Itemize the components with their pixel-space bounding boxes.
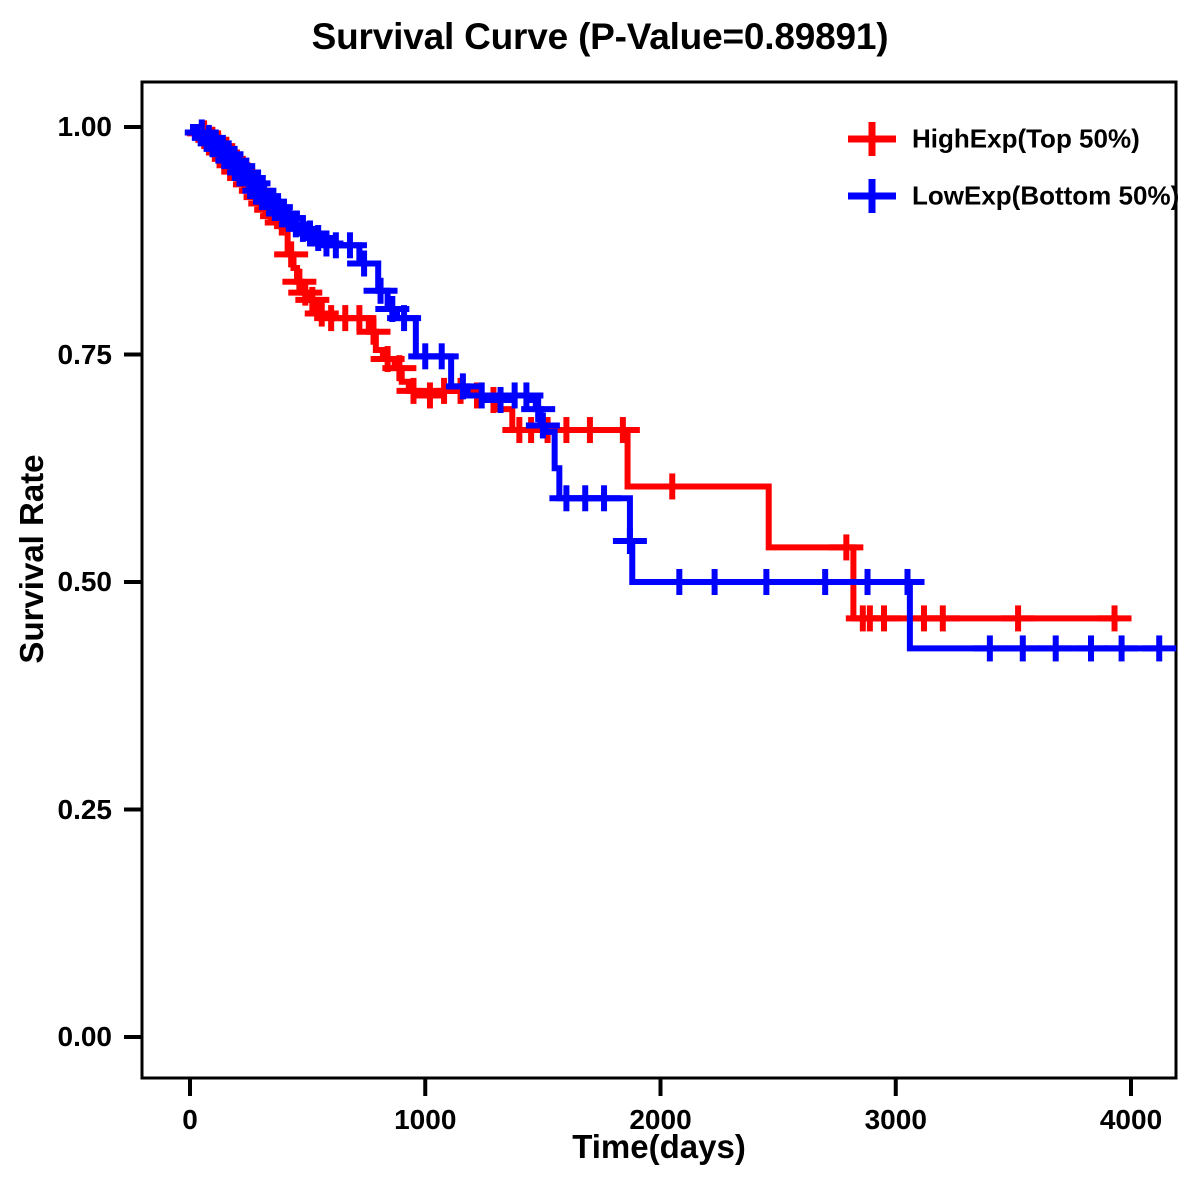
x-tick-label: 3000 xyxy=(865,1104,927,1136)
x-tick-label: 1000 xyxy=(394,1104,456,1136)
y-tick-label: 0.25 xyxy=(0,794,112,826)
legend-label: HighExp(Top 50%) xyxy=(912,124,1140,155)
axis-ticks xyxy=(124,127,1131,1096)
y-axis-label: Survival Rate xyxy=(13,409,51,709)
x-tick-label: 0 xyxy=(182,1104,198,1136)
legend-label: LowExp(Bottom 50%) xyxy=(912,181,1179,212)
y-tick-label: 1.00 xyxy=(0,111,112,143)
legend-marks xyxy=(848,122,896,213)
survival-curve-figure: Survival Curve (P-Value=0.89891) Surviva… xyxy=(0,0,1200,1200)
y-tick-label: 0.75 xyxy=(0,339,112,371)
x-tick-label: 4000 xyxy=(1100,1104,1162,1136)
y-tick-label: 0.00 xyxy=(0,1021,112,1053)
y-tick-label: 0.50 xyxy=(0,566,112,598)
x-tick-label: 2000 xyxy=(629,1104,691,1136)
